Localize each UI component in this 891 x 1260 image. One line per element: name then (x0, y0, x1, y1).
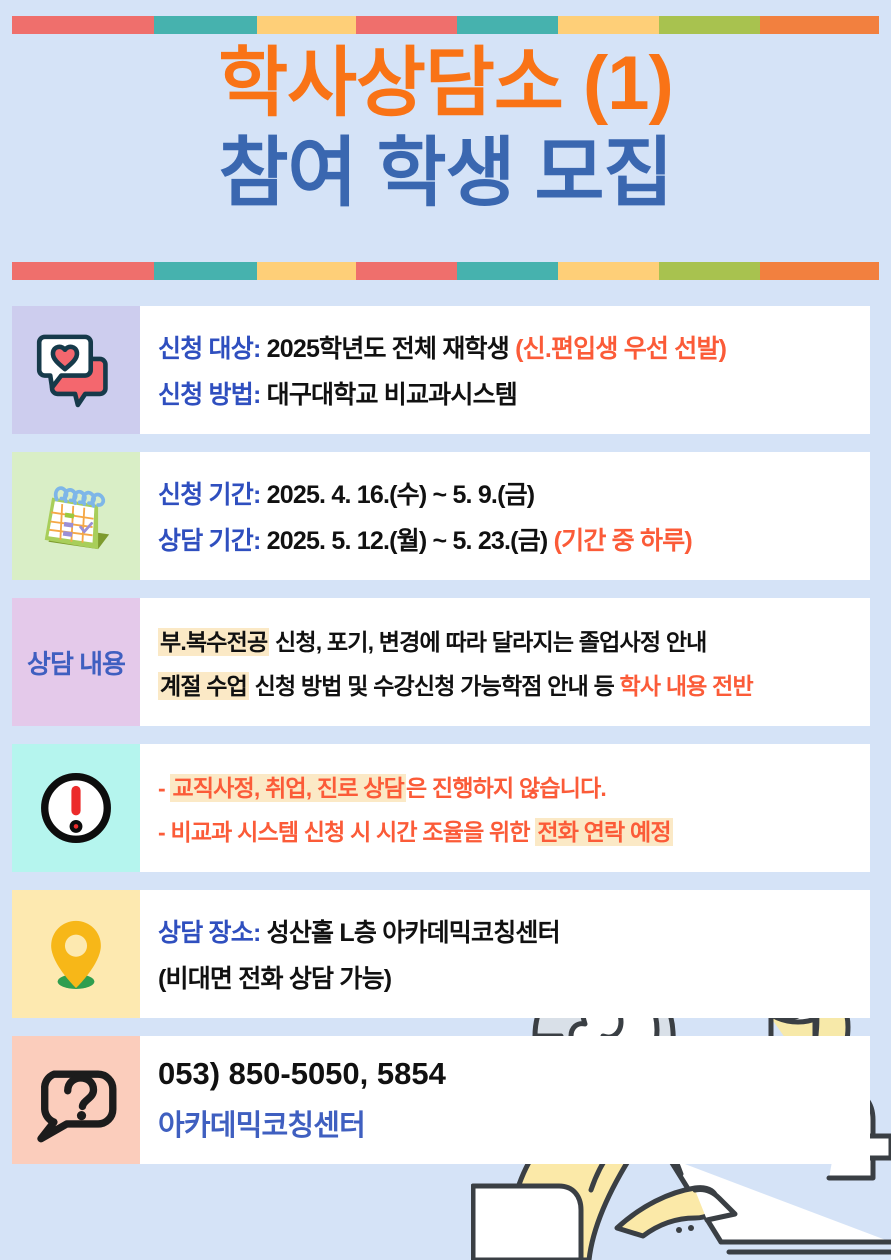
row-consult-content: 상담 내용 부.복수전공 신청, 포기, 변경에 따라 달라지는 졸업사정 안내… (12, 598, 870, 726)
consult-content-highlight-2: 계절 수업 (158, 672, 249, 700)
icon-cell-period-info (12, 452, 140, 580)
text-cell-location: 상담 장소: 성산홀 L층 아카데믹코칭센터 (비대면 전화 상담 가능) (140, 890, 870, 1018)
row-period-info: 신청 기간: 2025. 4. 16.(수) ~ 5. 9.(금) 상담 기간:… (12, 452, 870, 580)
location-label: 상담 장소: (158, 919, 260, 947)
apply-period-value: 2025. 4. 16.(수) ~ 5. 9.(금) (267, 481, 535, 509)
icon-cell-location (12, 890, 140, 1018)
icon-cell-contact (12, 1036, 140, 1164)
apply-period-line: 신청 기간: 2025. 4. 16.(수) ~ 5. 9.(금) (158, 475, 856, 511)
row-notice: - 교직사정, 취업, 진로 상담은 진행하지 않습니다. - 비교과 시스템 … (12, 744, 870, 872)
icon-cell-notice (12, 744, 140, 872)
color-bar-segment-4 (457, 16, 558, 34)
color-bar-segment-2 (257, 16, 356, 34)
row-contact: 053) 850-5050, 5854 아카데믹코칭센터 (12, 1036, 870, 1164)
content-rows: 신청 대상: 2025학년도 전체 재학생 (신.편입생 우선 선발) 신청 방… (12, 306, 870, 1182)
color-bar-segment-6 (659, 16, 760, 34)
consult-content-highlight-1: 부.복수전공 (158, 628, 269, 656)
color-bar-segment-2 (257, 262, 356, 280)
row-location: 상담 장소: 성산홀 L층 아카데믹코칭센터 (비대면 전화 상담 가능) (12, 890, 870, 1018)
consult-period-line: 상담 기간: 2025. 5. 12.(월) ~ 5. 23.(금) (기간 중… (158, 521, 856, 557)
bottom-color-bar (12, 262, 879, 280)
top-color-bar (12, 16, 879, 34)
color-bar-segment-6 (659, 262, 760, 280)
text-cell-notice: - 교직사정, 취업, 진로 상담은 진행하지 않습니다. - 비교과 시스템 … (140, 744, 870, 872)
apply-method-value: 대구대학교 비교과시스템 (267, 381, 517, 409)
exclamation-circle-icon (30, 762, 122, 854)
apply-method-label: 신청 방법: (158, 381, 260, 409)
map-pin-icon (30, 908, 122, 1000)
text-cell-apply-info: 신청 대상: 2025학년도 전체 재학생 (신.편입생 우선 선발) 신청 방… (140, 306, 870, 434)
consult-period-note: (기간 중 하루) (554, 527, 692, 555)
chat-bubbles-heart-icon (30, 324, 122, 416)
apply-target-value: 2025학년도 전체 재학생 (267, 335, 509, 363)
notice-line-1: - 교직사정, 취업, 진로 상담은 진행하지 않습니다. (158, 769, 856, 803)
apply-period-label: 신청 기간: (158, 481, 260, 509)
apply-target-line: 신청 대상: 2025학년도 전체 재학생 (신.편입생 우선 선발) (158, 329, 856, 365)
location-line-1: 상담 장소: 성산홀 L층 아카데믹코칭센터 (158, 913, 856, 949)
location-value: 성산홀 L층 아카데믹코칭센터 (267, 919, 560, 947)
text-cell-period-info: 신청 기간: 2025. 4. 16.(수) ~ 5. 9.(금) 상담 기간:… (140, 452, 870, 580)
consult-period-label: 상담 기간: (158, 527, 260, 555)
notice-highlight-1: 교직사정, 취업, 진로 상담 (170, 774, 406, 802)
notice-bullet-2: - (158, 819, 165, 845)
color-bar-segment-4 (457, 262, 558, 280)
consult-content-label: 상담 내용 (12, 598, 140, 726)
text-cell-consult-content: 부.복수전공 신청, 포기, 변경에 따라 달라지는 졸업사정 안내 계절 수업… (140, 598, 870, 726)
title-line-2: 참여 학생 모집 (0, 136, 891, 212)
desk-calendar-icon (30, 470, 122, 562)
notice-bullet-1: - (158, 775, 165, 801)
apply-target-label: 신청 대상: (158, 335, 260, 363)
text-cell-contact: 053) 850-5050, 5854 아카데믹코칭센터 (140, 1036, 870, 1164)
contact-center-name: 아카데믹코칭센터 (158, 1102, 856, 1144)
contact-phone: 053) 850-5050, 5854 (158, 1056, 856, 1092)
consult-content-rest-2: 신청 방법 및 수강신청 가능학점 안내 등 (249, 673, 619, 699)
consult-content-line-2: 계절 수업 신청 방법 및 수강신청 가능학점 안내 등 학사 내용 전반 (158, 667, 856, 701)
color-bar-segment-1 (154, 16, 257, 34)
apply-target-note: (신.편입생 우선 선발) (515, 335, 726, 363)
color-bar-segment-7 (760, 262, 879, 280)
color-bar-segment-5 (558, 16, 659, 34)
title-line-1: 학사상담소 (1) (0, 46, 891, 122)
location-line-2: (비대면 전화 상담 가능) (158, 959, 856, 995)
apply-method-line: 신청 방법: 대구대학교 비교과시스템 (158, 375, 856, 411)
color-bar-segment-3 (356, 16, 457, 34)
color-bar-segment-1 (154, 262, 257, 280)
row-apply-info: 신청 대상: 2025학년도 전체 재학생 (신.편입생 우선 선발) 신청 방… (12, 306, 870, 434)
notice-emphasis-2: 전화 연락 예정 (535, 818, 672, 846)
notice-rest-1: 은 진행하지 않습니다. (406, 775, 606, 801)
notice-line-2: - 비교과 시스템 신청 시 시간 조율을 위한 전화 연락 예정 (158, 813, 856, 847)
poster-title: 학사상담소 (1) 참여 학생 모집 (0, 46, 891, 212)
question-speech-bubble-icon (30, 1054, 122, 1146)
location-note: (비대면 전화 상담 가능) (158, 965, 391, 993)
color-bar-segment-0 (12, 262, 154, 280)
color-bar-segment-3 (356, 262, 457, 280)
notice-rest-2: 비교과 시스템 신청 시 시간 조율을 위한 (170, 819, 535, 845)
consult-content-rest-1: 신청, 포기, 변경에 따라 달라지는 졸업사정 안내 (269, 629, 706, 655)
icon-cell-apply-info (12, 306, 140, 434)
color-bar-segment-7 (760, 16, 879, 34)
consult-content-line-1: 부.복수전공 신청, 포기, 변경에 따라 달라지는 졸업사정 안내 (158, 623, 856, 657)
color-bar-segment-5 (558, 262, 659, 280)
consult-content-emphasis-2: 학사 내용 전반 (620, 673, 753, 699)
color-bar-segment-0 (12, 16, 154, 34)
consult-period-value: 2025. 5. 12.(월) ~ 5. 23.(금) (267, 527, 548, 555)
